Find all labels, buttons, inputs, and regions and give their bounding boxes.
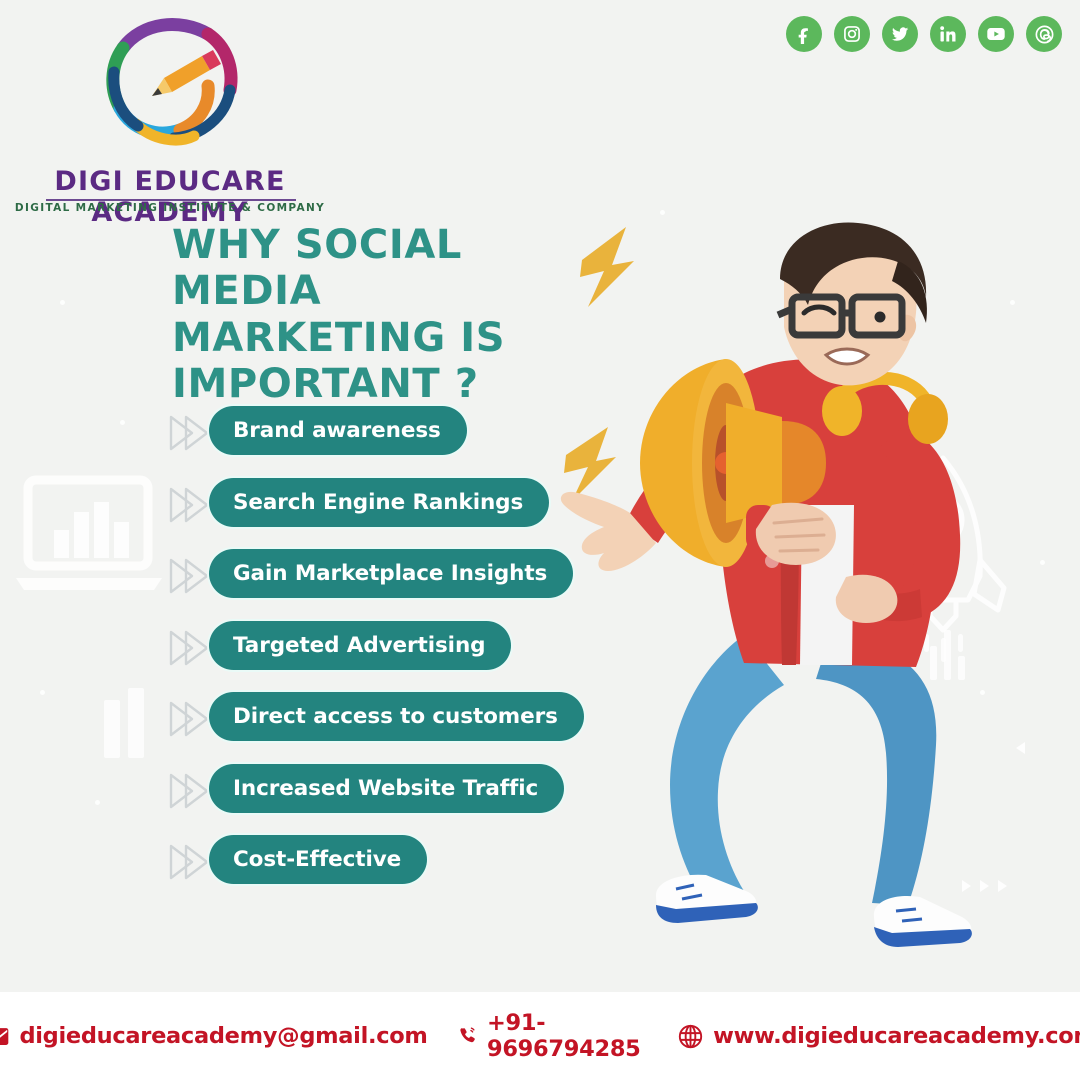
- benefit-pill[interactable]: Gain Marketplace Insights: [209, 549, 573, 598]
- envelope-icon: [0, 1023, 10, 1050]
- poster: DIGI EDUCARE ACADEMY DIGITAL MARKETING I…: [0, 0, 1080, 1080]
- benefit-label: Cost-Effective: [233, 847, 401, 872]
- phone-text: +91-9696794285: [487, 1010, 647, 1062]
- benefits-list: Brand awareness Search Engine Rankings: [166, 404, 536, 905]
- list-item: Increased Website Traffic: [166, 762, 536, 834]
- website-text: www.digieducareacademy.com: [713, 1023, 1080, 1049]
- phone-contact[interactable]: +91-9696794285: [458, 1010, 648, 1062]
- website-contact[interactable]: www.digieducareacademy.com: [677, 1023, 1080, 1050]
- brand-tagline: DIGITAL MARKETING INSTITUTE & COMPANY: [10, 202, 330, 214]
- benefit-pill[interactable]: Search Engine Rankings: [209, 478, 549, 527]
- e-swirl-pencil-logo-icon: [90, 12, 255, 162]
- benefit-label: Gain Marketplace Insights: [233, 561, 547, 586]
- benefit-pill[interactable]: Direct access to customers: [209, 692, 584, 741]
- linkedin-icon[interactable]: [930, 16, 966, 52]
- benefit-label: Brand awareness: [233, 418, 441, 443]
- list-item: Direct access to customers: [166, 690, 536, 762]
- double-chevron-icon: [166, 627, 210, 669]
- man-with-megaphone-3d-character: [530, 205, 1080, 985]
- benefit-pill[interactable]: Cost-Effective: [209, 835, 427, 884]
- contact-footer: digieducareacademy@gmail.com +91-9696794…: [0, 992, 1080, 1080]
- double-chevron-icon: [166, 770, 210, 812]
- sneaker-left: [656, 875, 758, 923]
- benefit-label: Search Engine Rankings: [233, 490, 523, 515]
- list-item: Cost-Effective: [166, 833, 536, 905]
- social-icon-bar: [786, 16, 1062, 52]
- email-contact[interactable]: digieducareacademy@gmail.com: [0, 1023, 428, 1050]
- headline-line-2: MARKETING IS: [172, 315, 592, 361]
- phone-ringing-icon: [458, 1023, 478, 1050]
- brand-logo: DIGI EDUCARE ACADEMY DIGITAL MARKETING I…: [10, 8, 330, 213]
- headline-line-1: WHY SOCIAL MEDIA: [172, 222, 592, 315]
- facebook-icon[interactable]: [786, 16, 822, 52]
- double-chevron-icon: [166, 698, 210, 740]
- lightning-bolt-icon: [564, 227, 634, 501]
- benefit-label: Targeted Advertising: [233, 633, 485, 658]
- double-chevron-icon: [166, 555, 210, 597]
- globe-icon: [677, 1023, 704, 1050]
- double-chevron-icon: [166, 484, 210, 526]
- poster-canvas: DIGI EDUCARE ACADEMY DIGITAL MARKETING I…: [0, 0, 1080, 992]
- page-title: WHY SOCIAL MEDIA MARKETING IS IMPORTANT …: [172, 222, 592, 408]
- instagram-icon[interactable]: [834, 16, 870, 52]
- headline-line-3: IMPORTANT ?: [172, 361, 592, 407]
- twitter-icon[interactable]: [882, 16, 918, 52]
- benefit-pill[interactable]: Targeted Advertising: [209, 621, 511, 670]
- list-item: Targeted Advertising: [166, 619, 536, 691]
- brand-name: DIGI EDUCARE ACADEMY: [10, 166, 330, 228]
- logo-divider: [46, 199, 296, 201]
- benefit-pill[interactable]: Increased Website Traffic: [209, 764, 564, 813]
- benefit-label: Direct access to customers: [233, 704, 558, 729]
- benefit-label: Increased Website Traffic: [233, 776, 538, 801]
- benefit-pill[interactable]: Brand awareness: [209, 406, 467, 455]
- threads-icon[interactable]: [1026, 16, 1062, 52]
- list-item: Gain Marketplace Insights: [166, 547, 536, 619]
- double-chevron-icon: [166, 412, 210, 454]
- list-item: Brand awareness: [166, 404, 536, 476]
- sneaker-right: [874, 896, 972, 947]
- double-chevron-icon: [166, 841, 210, 883]
- youtube-icon[interactable]: [978, 16, 1014, 52]
- email-text: digieducareacademy@gmail.com: [19, 1023, 427, 1049]
- list-item: Search Engine Rankings: [166, 476, 536, 548]
